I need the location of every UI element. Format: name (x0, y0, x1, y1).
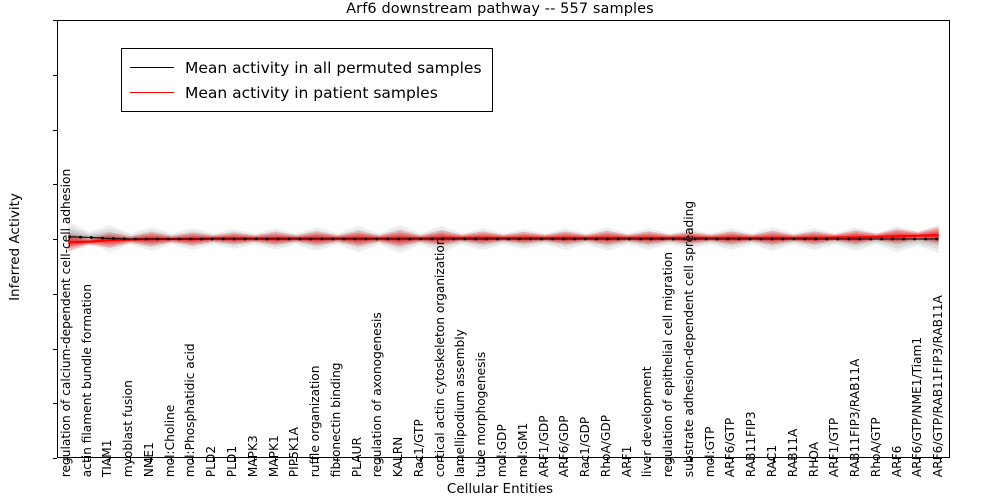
x-tick-label: RAB11A (787, 429, 799, 478)
x-tick-label: RAC1 (766, 445, 778, 477)
x-tick-label: ARF6/GTP/NME1/Tiam1 (911, 337, 923, 477)
x-tick-label: ARF6/GTP (724, 418, 736, 477)
x-tick-label: fibronectin binding (330, 362, 342, 477)
x-tick-label: ARF1/GTP (828, 418, 840, 477)
legend-swatch-patient (130, 92, 174, 93)
x-tick-label: PLD1 (226, 446, 238, 477)
legend-swatch-permuted (130, 67, 174, 68)
x-tick-label: MAPK1 (267, 435, 279, 477)
x-tick-label: ARF6/GTP/RAB11FIP3/RAB11A (932, 295, 944, 477)
x-tick-label: mol:GTP (703, 427, 715, 478)
x-tick-label: RhoA/GTP (870, 417, 882, 477)
x-axis-label: Cellular Entities (0, 481, 1000, 497)
x-tick-label: actin filament bundle formation (80, 284, 92, 477)
x-tick-label: regulation of axonogenesis (371, 312, 383, 477)
x-tick-label: MAPK3 (247, 435, 259, 477)
x-tick-label: mol:GM1 (517, 423, 529, 478)
x-tick-label: PLD2 (205, 446, 217, 477)
y-tick-mark (53, 458, 57, 459)
x-tick-label: RHOA (807, 442, 819, 477)
x-tick-label: NME1 (143, 442, 155, 477)
x-tick-label: Rac1/GDP (579, 417, 591, 477)
x-tick-label: Rac1/GTP (413, 419, 425, 477)
x-tick-label: cortical actin cytoskeleton organization (433, 237, 445, 477)
x-tick-label: mol:Phosphatidic acid (184, 343, 196, 477)
x-tick-label: KALRN (392, 437, 404, 478)
x-tick-label: lamellipodium assembly (454, 329, 466, 477)
chart-legend: Mean activity in all permuted samples Me… (121, 48, 493, 112)
x-tick-label: myoblast fusion (122, 380, 134, 477)
x-tick-label: ARF1/GDP (537, 415, 549, 477)
x-tick-label: RhoA/GDP (600, 415, 612, 477)
x-tick-label: PIP5K1A (288, 427, 300, 477)
x-tick-label: TIAM1 (101, 440, 113, 478)
legend-label-permuted: Mean activity in all permuted samples (185, 59, 482, 77)
x-tick-label: liver development (641, 366, 653, 477)
x-tick-label: regulation of calcium-dependent cell-cel… (60, 169, 72, 477)
legend-item: Mean activity in patient samples (130, 80, 482, 105)
x-tick-label: ARF1 (620, 446, 632, 478)
x-tick-label: ARF6/GDP (558, 415, 570, 477)
legend-label-patient: Mean activity in patient samples (185, 84, 438, 102)
x-tick-label: ARF6 (890, 446, 902, 478)
chart-figure: Arf6 downstream pathway -- 557 samples I… (0, 0, 1000, 500)
y-axis-label: Inferred Activity (7, 37, 23, 457)
x-tick-label: ruffle organization (309, 366, 321, 478)
x-tick-label: mol:GDP (496, 424, 508, 477)
x-tick-label: RAB11FIP3 (745, 411, 757, 477)
chart-title: Arf6 downstream pathway -- 557 samples (0, 1, 1000, 17)
x-tick-label: regulation of epithelial cell migration (662, 252, 674, 477)
x-tick-label: mol:Choline (164, 405, 176, 478)
x-tick-label: substrate adhesion-dependent cell spread… (683, 201, 695, 477)
x-tick-label: PLAUR (350, 437, 362, 477)
x-tick-label: RAB11FIP3/RAB11A (849, 359, 861, 478)
legend-item: Mean activity in all permuted samples (130, 55, 482, 80)
x-tick-label: tube morphogenesis (475, 352, 487, 477)
